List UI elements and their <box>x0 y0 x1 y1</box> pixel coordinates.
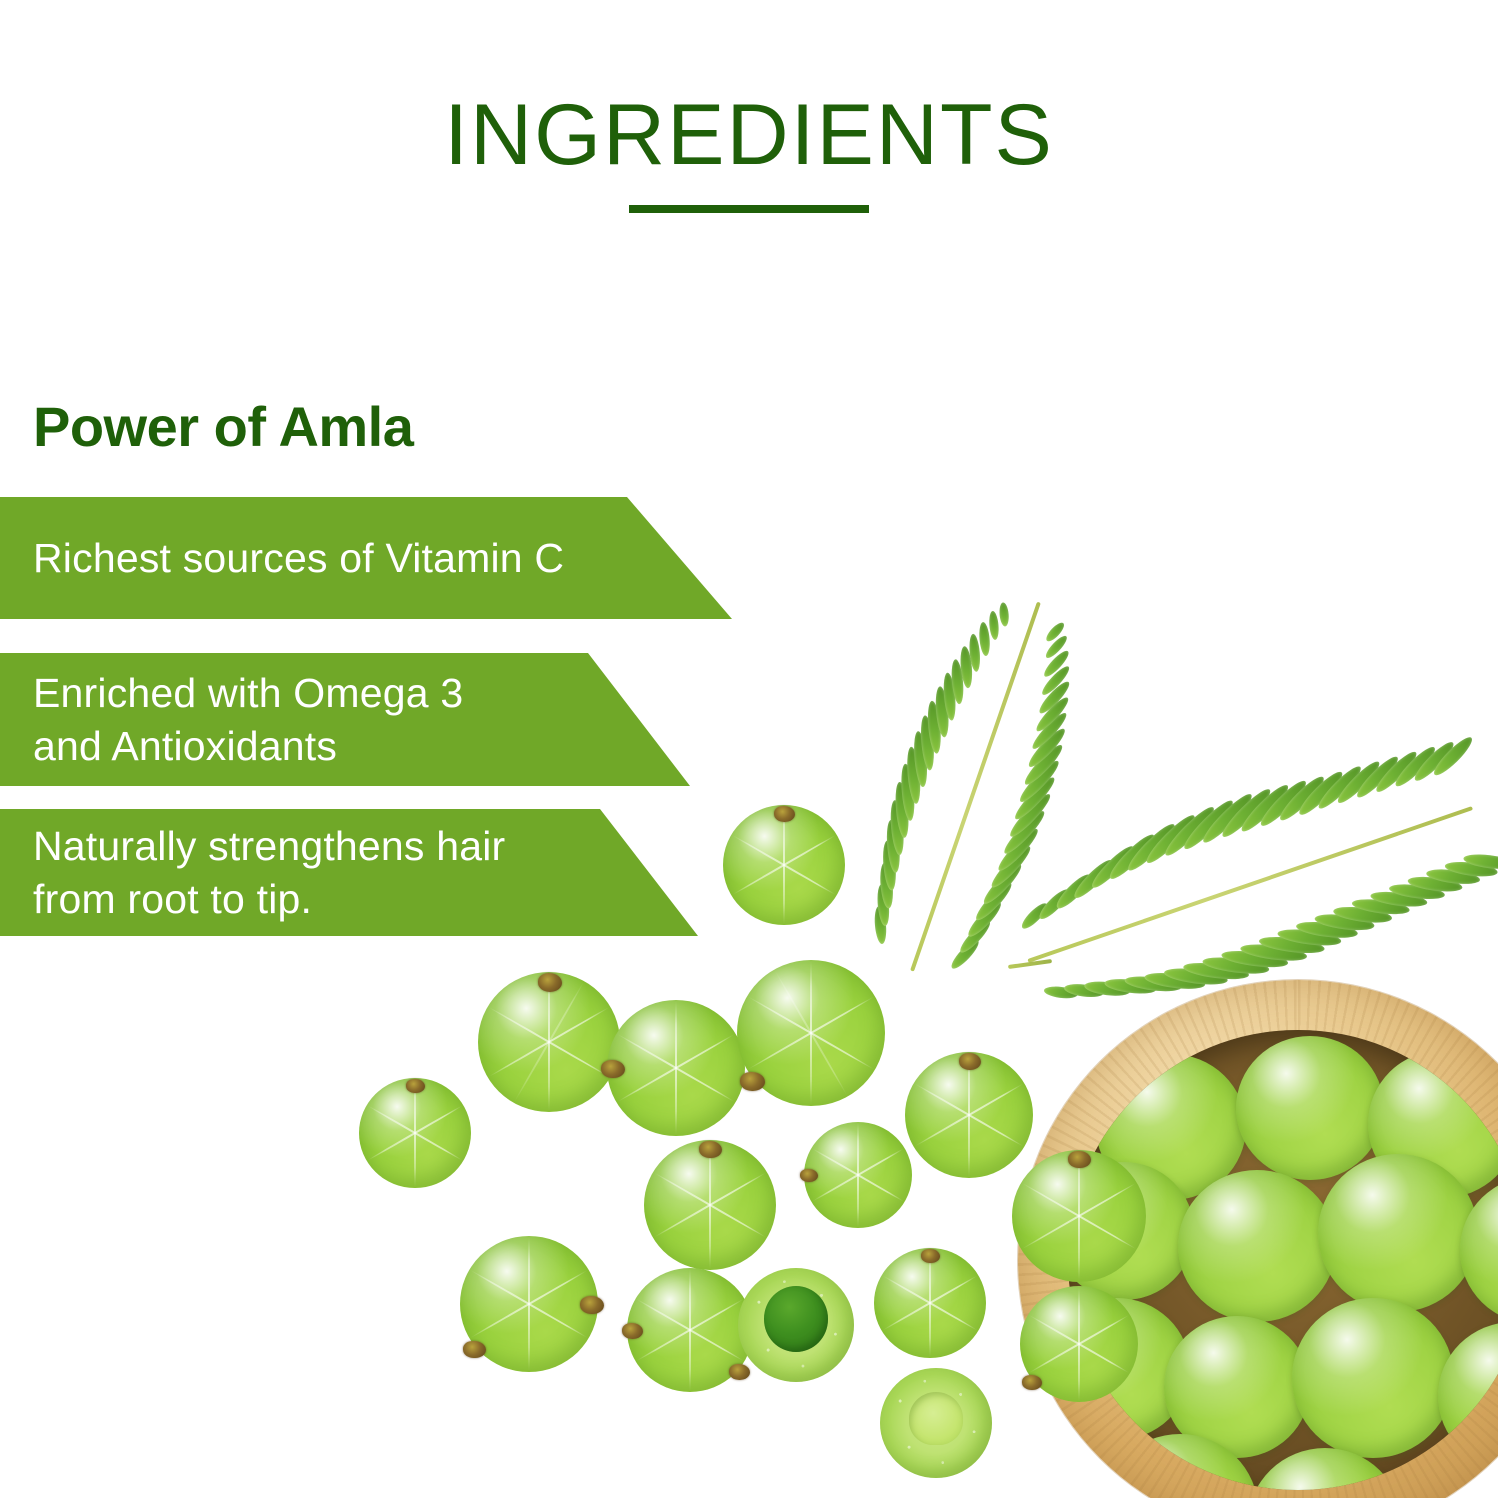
amla-berry <box>627 1268 753 1392</box>
berry-rib <box>513 981 585 1103</box>
berry-stem <box>463 1341 486 1359</box>
berry-rib <box>709 1140 711 1270</box>
berry-stem <box>622 1323 643 1339</box>
leaflet <box>889 800 906 856</box>
berry-rib <box>636 1298 744 1362</box>
bowl-berry <box>1460 1176 1498 1324</box>
leaflet <box>1183 960 1250 982</box>
leaflet <box>1295 768 1347 820</box>
leaflet <box>1372 748 1420 796</box>
bowl-berry <box>1368 1050 1498 1198</box>
leaflet <box>881 840 897 891</box>
leaflet <box>1444 859 1498 878</box>
leaflet <box>1221 948 1289 970</box>
bowl-berry <box>1068 1162 1194 1300</box>
bowl-berry <box>1068 1298 1190 1440</box>
leaflet <box>1277 927 1342 949</box>
amla-berry <box>359 1078 471 1188</box>
berry-stem <box>921 1249 940 1263</box>
benefit-banner-3: Naturally strengthens hair from root to … <box>0 809 698 936</box>
berry-rib <box>812 1148 905 1203</box>
leaflet <box>1295 919 1358 940</box>
leaflet <box>1025 725 1069 770</box>
berry-rib <box>675 1000 677 1136</box>
amla-berry-halved <box>880 1368 992 1478</box>
berry-rib <box>1021 1182 1136 1250</box>
berry-rib <box>488 1006 610 1078</box>
leaf-stem-fragment <box>1008 959 1052 969</box>
leaflet <box>999 602 1010 627</box>
berry-stem <box>774 806 795 822</box>
bowl-berry <box>1178 1170 1336 1322</box>
berry-stem <box>1068 1151 1091 1168</box>
leaflet <box>1053 871 1095 913</box>
amla-berry <box>644 1140 776 1270</box>
berry-rib <box>747 996 874 1071</box>
leaflet <box>1088 842 1137 891</box>
leaflet <box>968 633 981 672</box>
berry-rib <box>732 834 837 896</box>
ingredients-infographic: INGREDIENTS Power of Amla Richest source… <box>0 0 1498 1498</box>
berry-rib <box>414 1078 416 1188</box>
berry-rib <box>774 969 849 1096</box>
berry-stem <box>538 973 562 991</box>
leaflet <box>876 884 891 927</box>
berry-stem <box>959 1053 981 1069</box>
leaflet <box>1033 694 1072 734</box>
leaflet <box>965 898 1005 940</box>
amla-berry <box>1020 1286 1138 1402</box>
bowl-berry <box>1164 1316 1310 1458</box>
berry-rib <box>548 972 550 1112</box>
leaflet <box>934 686 950 738</box>
amla-berry-halved <box>738 1268 854 1382</box>
berry-rib <box>636 1298 744 1362</box>
leaflet <box>1070 856 1116 902</box>
berry-stem <box>406 1079 425 1093</box>
section-heading: Power of Amla <box>33 396 413 458</box>
berry-rib <box>1028 1314 1129 1374</box>
bowl-berry <box>1398 1438 1498 1489</box>
leaflet <box>1463 852 1498 871</box>
leaflet <box>1163 966 1228 988</box>
berry-rib <box>1021 1182 1136 1250</box>
amla-berry <box>1012 1150 1146 1282</box>
bowl-wood-grain <box>1018 980 1498 1498</box>
leaflet <box>1044 620 1067 644</box>
page-title: INGREDIENTS <box>0 92 1498 178</box>
leaflet <box>1039 663 1072 698</box>
leaflet <box>1392 743 1439 790</box>
berry-rib <box>882 1275 978 1332</box>
amla-berry <box>874 1248 986 1358</box>
berry-rib <box>470 1269 589 1339</box>
berry-stem <box>729 1364 750 1380</box>
leaflet <box>912 731 929 788</box>
berry-rib <box>1078 1286 1080 1402</box>
berry-rib <box>470 1269 589 1339</box>
bowl-interior <box>1068 1030 1498 1489</box>
berry-rib <box>528 1236 530 1372</box>
leaflet <box>1257 777 1311 831</box>
leaflet <box>905 746 922 804</box>
berry-rib <box>812 1148 905 1203</box>
berry-stem <box>601 1060 624 1078</box>
leaflet <box>1430 733 1476 779</box>
leaflet <box>1000 807 1048 857</box>
benefit-banner-1: Richest sources of Vitamin C <box>0 497 732 619</box>
leaflet <box>1315 762 1365 812</box>
leaflet <box>1407 874 1463 894</box>
leaflet <box>1019 900 1051 932</box>
amla-berry <box>478 972 620 1112</box>
leaflet <box>1106 830 1159 883</box>
berry-rib <box>617 1033 736 1103</box>
leaflet <box>980 860 1025 907</box>
benefit-banner-2: Enriched with Omega 3 and Antioxidants <box>0 653 690 786</box>
berry-rib <box>488 1006 610 1078</box>
leaflet <box>1276 772 1328 824</box>
berry-rib <box>653 1172 767 1239</box>
amla-berry <box>723 805 845 925</box>
benefit-banner-3-label: Naturally strengthens hair from root to … <box>33 820 505 925</box>
leaflet <box>1351 897 1410 917</box>
berry-rib <box>747 996 874 1071</box>
amla-berry <box>460 1236 598 1372</box>
berry-rib <box>367 1105 463 1162</box>
berry-rib <box>914 1083 1024 1148</box>
leaflet <box>1332 904 1392 925</box>
leaflet <box>1202 955 1270 977</box>
berry-rib <box>689 1268 691 1392</box>
leaflet <box>1142 811 1199 868</box>
leaflet <box>972 879 1015 924</box>
amla-leaf-upper-left <box>903 599 1047 974</box>
leaflet <box>1334 758 1383 807</box>
bowl-berry <box>1292 1298 1454 1458</box>
leaflet <box>1240 942 1308 964</box>
leaflet <box>1063 982 1104 999</box>
berry-rib <box>968 1052 970 1178</box>
berry-stem <box>740 1072 765 1091</box>
leaflet <box>1036 678 1073 716</box>
berry-stem <box>699 1141 721 1158</box>
berry-rib <box>1078 1150 1080 1282</box>
leaflet <box>1104 977 1157 996</box>
leaflet <box>1199 790 1256 847</box>
berry-rib <box>653 1172 767 1239</box>
berry-stem <box>1022 1375 1042 1390</box>
leaflet <box>1084 979 1131 998</box>
berry-flesh-texture <box>880 1368 992 1478</box>
leaflet <box>988 843 1034 891</box>
leaflet <box>1043 985 1078 1000</box>
leaflet <box>919 715 936 771</box>
amla-seed <box>764 1286 829 1352</box>
leaflet <box>950 659 965 705</box>
leaflet <box>885 819 902 873</box>
leaflet <box>942 672 957 721</box>
benefit-banner-2-label: Enriched with Omega 3 and Antioxidants <box>33 667 463 772</box>
bowl-berry <box>1248 1448 1402 1489</box>
leaflet <box>957 918 994 956</box>
leaflet <box>1124 974 1182 994</box>
leaflet <box>1011 774 1058 823</box>
berry-rib <box>914 1083 1024 1148</box>
leaflet <box>959 646 974 689</box>
leaflet <box>1370 889 1428 909</box>
berry-stem <box>580 1296 603 1314</box>
bowl-berry <box>1102 1434 1258 1489</box>
leaflet <box>1314 912 1375 933</box>
leaflet <box>995 825 1042 874</box>
leaflet <box>879 862 895 909</box>
leaflet <box>926 700 943 754</box>
leaflet <box>1161 803 1218 860</box>
leaflet <box>899 763 916 821</box>
leaf-rachis <box>910 602 1041 972</box>
leaflet <box>894 781 911 838</box>
leaflet <box>988 611 999 641</box>
leaflet <box>1426 867 1481 886</box>
leaflet <box>948 937 982 972</box>
leaflet <box>1258 934 1325 956</box>
leaflet <box>1144 970 1206 991</box>
berry-stem <box>800 1169 818 1183</box>
leaflet <box>1041 648 1072 680</box>
bowl-berry <box>1438 1322 1498 1470</box>
leaflet <box>1237 781 1292 836</box>
bowl-berry <box>1318 1154 1478 1312</box>
leaflet <box>1353 753 1402 802</box>
berry-rib <box>810 960 812 1106</box>
amla-berry <box>737 960 885 1106</box>
leaf-rachis <box>1027 806 1473 963</box>
berry-rib <box>882 1275 978 1332</box>
leaflet <box>1388 882 1445 902</box>
leaflet <box>1006 790 1054 840</box>
bowl-berry <box>1096 1054 1246 1200</box>
amla-berry <box>804 1122 912 1228</box>
amla-leaf-lower-right <box>1025 799 1475 969</box>
leaflet <box>1180 796 1237 853</box>
benefit-banner-1-label: Richest sources of Vitamin C <box>33 532 564 584</box>
berry-rib <box>1028 1314 1129 1374</box>
leaflet <box>1016 757 1062 805</box>
leaflet <box>1043 633 1069 660</box>
leaflet <box>1021 741 1066 788</box>
bowl-berry <box>1236 1036 1384 1180</box>
berry-rib <box>617 1033 736 1103</box>
berry-rib <box>732 834 837 896</box>
wooden-bowl <box>1018 980 1498 1498</box>
leaflet <box>1029 710 1070 753</box>
leaflet <box>978 622 991 657</box>
berry-flesh-texture <box>738 1268 854 1382</box>
amla-seed-cavity <box>909 1392 963 1445</box>
leaflet <box>873 906 887 945</box>
berry-rib <box>367 1105 463 1162</box>
leaflet <box>1411 738 1458 785</box>
title-underline <box>629 205 869 213</box>
amla-berry <box>905 1052 1033 1178</box>
leaflet <box>1124 820 1179 875</box>
leaflet <box>1036 886 1073 923</box>
amla-berry <box>607 1000 745 1136</box>
leaflet <box>1218 785 1275 842</box>
berry-rib <box>857 1122 859 1228</box>
berry-rib <box>783 805 785 925</box>
berry-rib <box>929 1248 931 1358</box>
